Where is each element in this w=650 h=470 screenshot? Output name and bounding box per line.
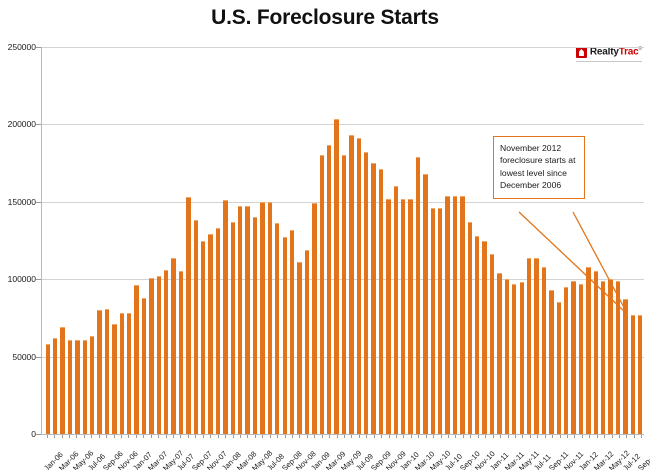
x-axis-tick bbox=[574, 435, 575, 438]
bar-slot bbox=[466, 47, 473, 434]
bar[interactable] bbox=[327, 145, 331, 434]
bar[interactable] bbox=[475, 236, 479, 434]
bar-slot bbox=[66, 47, 73, 434]
bar[interactable] bbox=[120, 313, 124, 434]
bar[interactable] bbox=[579, 284, 583, 434]
bar-slot bbox=[118, 47, 125, 434]
bar-series bbox=[42, 47, 644, 434]
y-axis-tick-label: 0 bbox=[0, 429, 36, 439]
bar-slot bbox=[259, 47, 266, 434]
bar-slot bbox=[207, 47, 214, 434]
x-axis-tick bbox=[54, 435, 55, 438]
y-axis-tick-label: 200000 bbox=[0, 119, 36, 129]
x-axis-tick bbox=[582, 435, 583, 438]
x-axis-tick bbox=[225, 435, 226, 438]
bar[interactable] bbox=[320, 155, 324, 434]
bar[interactable] bbox=[438, 208, 442, 434]
bar[interactable] bbox=[408, 199, 412, 434]
bar-slot bbox=[185, 47, 192, 434]
y-axis-tick-label: 250000 bbox=[0, 42, 36, 52]
bar-slot bbox=[533, 47, 540, 434]
bar[interactable] bbox=[164, 270, 168, 434]
bar[interactable] bbox=[453, 196, 457, 434]
bar[interactable] bbox=[112, 324, 116, 434]
bar-slot bbox=[325, 47, 332, 434]
x-axis-tick bbox=[589, 435, 590, 438]
bar[interactable] bbox=[83, 340, 87, 434]
bar-slot bbox=[414, 47, 421, 434]
bar[interactable] bbox=[364, 152, 368, 434]
x-axis-tick bbox=[69, 435, 70, 438]
x-axis-tick bbox=[448, 435, 449, 438]
x-axis-tick bbox=[455, 435, 456, 438]
x-axis-tick bbox=[203, 435, 204, 438]
x-axis-tick bbox=[612, 435, 613, 438]
bar[interactable] bbox=[75, 340, 79, 434]
x-axis-tick bbox=[337, 435, 338, 438]
x-axis-tick bbox=[522, 435, 523, 438]
bar-slot bbox=[577, 47, 584, 434]
bar[interactable] bbox=[238, 206, 242, 434]
x-axis-tick bbox=[626, 435, 627, 438]
bar-slot bbox=[548, 47, 555, 434]
bar-slot bbox=[503, 47, 510, 434]
annotation-line: lowest level since bbox=[500, 167, 578, 179]
bar[interactable] bbox=[179, 271, 183, 434]
bar[interactable] bbox=[194, 220, 198, 434]
bar[interactable] bbox=[445, 196, 449, 434]
bar[interactable] bbox=[564, 287, 568, 434]
bar[interactable] bbox=[127, 313, 131, 434]
bar-slot bbox=[437, 47, 444, 434]
x-axis-tick bbox=[552, 435, 553, 438]
x-axis-tick bbox=[121, 435, 122, 438]
bar-slot bbox=[370, 47, 377, 434]
bar-slot bbox=[274, 47, 281, 434]
bar-slot bbox=[170, 47, 177, 434]
bar-slot bbox=[200, 47, 207, 434]
bar-slot bbox=[355, 47, 362, 434]
bar-slot bbox=[74, 47, 81, 434]
bar-slot bbox=[488, 47, 495, 434]
bar[interactable] bbox=[268, 202, 272, 434]
bar-slot bbox=[251, 47, 258, 434]
x-axis-tick bbox=[508, 435, 509, 438]
bar-slot bbox=[288, 47, 295, 434]
x-axis-tick bbox=[641, 435, 642, 438]
bar-slot bbox=[192, 47, 199, 434]
x-axis-tick bbox=[403, 435, 404, 438]
bar[interactable] bbox=[283, 237, 287, 434]
x-axis-tick bbox=[597, 435, 598, 438]
x-axis-tick bbox=[277, 435, 278, 438]
bar-slot bbox=[340, 47, 347, 434]
bar[interactable] bbox=[253, 217, 257, 434]
bar-slot bbox=[81, 47, 88, 434]
bar-slot bbox=[474, 47, 481, 434]
bar-slot bbox=[281, 47, 288, 434]
chart-title: U.S. Foreclosure Starts bbox=[0, 6, 650, 30]
x-axis-tick bbox=[619, 435, 620, 438]
y-axis-tick-label: 50000 bbox=[0, 352, 36, 362]
bar[interactable] bbox=[386, 199, 390, 434]
bar-slot bbox=[599, 47, 606, 434]
bar[interactable] bbox=[201, 241, 205, 435]
y-axis: 050000100000150000200000250000 bbox=[0, 47, 36, 434]
x-axis-tick bbox=[463, 435, 464, 438]
bar-slot bbox=[244, 47, 251, 434]
bar-slot bbox=[562, 47, 569, 434]
bar[interactable] bbox=[549, 290, 553, 434]
bar[interactable] bbox=[401, 199, 405, 434]
plot-area bbox=[41, 47, 644, 435]
x-axis-tick bbox=[545, 435, 546, 438]
bar-slot bbox=[540, 47, 547, 434]
x-axis-tick bbox=[99, 435, 100, 438]
bar-slot bbox=[607, 47, 614, 434]
x-axis-tick bbox=[91, 435, 92, 438]
bar[interactable] bbox=[586, 267, 590, 434]
bar-slot bbox=[125, 47, 132, 434]
x-axis-tick bbox=[567, 435, 568, 438]
bar-slot bbox=[392, 47, 399, 434]
bar[interactable] bbox=[223, 200, 227, 434]
bar-slot bbox=[133, 47, 140, 434]
x-axis-tick bbox=[329, 435, 330, 438]
bar[interactable] bbox=[186, 197, 190, 434]
bar-slot bbox=[377, 47, 384, 434]
x-axis-tick bbox=[166, 435, 167, 438]
x-axis-tick bbox=[270, 435, 271, 438]
bar[interactable] bbox=[594, 271, 598, 434]
bar-slot bbox=[429, 47, 436, 434]
bar[interactable] bbox=[245, 206, 249, 434]
bar[interactable] bbox=[297, 262, 301, 434]
x-axis-tick bbox=[396, 435, 397, 438]
x-axis-tick bbox=[478, 435, 479, 438]
bar[interactable] bbox=[638, 315, 642, 434]
bar[interactable] bbox=[260, 202, 264, 434]
bar[interactable] bbox=[334, 119, 338, 434]
bar-slot bbox=[459, 47, 466, 434]
x-axis-tick bbox=[262, 435, 263, 438]
bar-slot bbox=[511, 47, 518, 434]
bar[interactable] bbox=[134, 285, 138, 434]
bar-slot bbox=[59, 47, 66, 434]
bar[interactable] bbox=[557, 302, 561, 434]
bar-slot bbox=[348, 47, 355, 434]
bar[interactable] bbox=[394, 186, 398, 434]
bar[interactable] bbox=[46, 344, 50, 434]
bar[interactable] bbox=[534, 258, 538, 434]
foreclosure-starts-chart: U.S. Foreclosure Starts RealtyTrac® 0500… bbox=[0, 0, 650, 470]
x-axis-tick bbox=[299, 435, 300, 438]
x-axis-tick bbox=[359, 435, 360, 438]
x-axis-tick bbox=[106, 435, 107, 438]
x-axis-tick bbox=[240, 435, 241, 438]
x-axis-tick bbox=[136, 435, 137, 438]
x-axis-tick bbox=[426, 435, 427, 438]
x-axis-tick bbox=[143, 435, 144, 438]
bar[interactable] bbox=[520, 282, 524, 434]
x-axis-tick bbox=[470, 435, 471, 438]
bar[interactable] bbox=[208, 234, 212, 434]
bar[interactable] bbox=[416, 157, 420, 434]
bar[interactable] bbox=[542, 267, 546, 434]
x-axis-tick bbox=[344, 435, 345, 438]
bar[interactable] bbox=[290, 230, 294, 434]
x-axis-tick bbox=[151, 435, 152, 438]
bar[interactable] bbox=[349, 135, 353, 434]
x-axis-tick bbox=[381, 435, 382, 438]
bar-slot bbox=[229, 47, 236, 434]
bar-slot bbox=[155, 47, 162, 434]
bar[interactable] bbox=[53, 338, 57, 434]
bar-slot bbox=[96, 47, 103, 434]
bar-slot bbox=[614, 47, 621, 434]
y-axis-tick-label: 100000 bbox=[0, 274, 36, 284]
bar-slot bbox=[51, 47, 58, 434]
x-axis-tick bbox=[173, 435, 174, 438]
bar-slot bbox=[451, 47, 458, 434]
bar-slot bbox=[525, 47, 532, 434]
bar-slot bbox=[44, 47, 51, 434]
bar-slot bbox=[266, 47, 273, 434]
bar-slot bbox=[407, 47, 414, 434]
bar[interactable] bbox=[631, 315, 635, 434]
x-axis-tick bbox=[314, 435, 315, 438]
x-axis-tick bbox=[493, 435, 494, 438]
x-axis-tick bbox=[62, 435, 63, 438]
bar-slot bbox=[177, 47, 184, 434]
bar-slot bbox=[385, 47, 392, 434]
bar-slot bbox=[311, 47, 318, 434]
bar-slot bbox=[148, 47, 155, 434]
bar[interactable] bbox=[105, 309, 109, 434]
x-axis-tick bbox=[114, 435, 115, 438]
x-axis-tick bbox=[634, 435, 635, 438]
x-axis-tick bbox=[433, 435, 434, 438]
x-axis-tick bbox=[158, 435, 159, 438]
bar[interactable] bbox=[482, 241, 486, 435]
x-axis-tick bbox=[180, 435, 181, 438]
x-axis-tick bbox=[411, 435, 412, 438]
bar[interactable] bbox=[231, 222, 235, 434]
x-axis-tick bbox=[195, 435, 196, 438]
x-axis-tick bbox=[389, 435, 390, 438]
x-axis-tick bbox=[285, 435, 286, 438]
bar-slot bbox=[237, 47, 244, 434]
bar-slot bbox=[585, 47, 592, 434]
bar-slot bbox=[103, 47, 110, 434]
bar[interactable] bbox=[608, 279, 612, 434]
bar-slot bbox=[222, 47, 229, 434]
bar[interactable] bbox=[371, 163, 375, 434]
bar[interactable] bbox=[505, 279, 509, 434]
bar-slot bbox=[111, 47, 118, 434]
x-axis-tick bbox=[247, 435, 248, 438]
bar-slot bbox=[496, 47, 503, 434]
x-axis-tick bbox=[210, 435, 211, 438]
annotation-line: foreclosure starts at bbox=[500, 154, 578, 166]
x-axis-tick bbox=[233, 435, 234, 438]
bar-slot bbox=[592, 47, 599, 434]
bar-slot bbox=[296, 47, 303, 434]
bar[interactable] bbox=[571, 281, 575, 434]
bar[interactable] bbox=[68, 340, 72, 434]
x-axis-tick bbox=[604, 435, 605, 438]
bar-slot bbox=[214, 47, 221, 434]
bar-slot bbox=[400, 47, 407, 434]
x-axis-tick bbox=[418, 435, 419, 438]
x-axis-tick bbox=[515, 435, 516, 438]
bar[interactable] bbox=[312, 203, 316, 434]
bar[interactable] bbox=[431, 208, 435, 434]
bar[interactable] bbox=[157, 276, 161, 434]
bar[interactable] bbox=[171, 258, 175, 434]
bar[interactable] bbox=[512, 284, 516, 434]
bar[interactable] bbox=[97, 310, 101, 434]
bar[interactable] bbox=[460, 196, 464, 434]
x-axis-tick bbox=[188, 435, 189, 438]
bar[interactable] bbox=[90, 336, 94, 434]
x-axis-tick bbox=[84, 435, 85, 438]
x-axis-tick bbox=[351, 435, 352, 438]
bar-slot bbox=[140, 47, 147, 434]
x-axis-tick bbox=[500, 435, 501, 438]
bar[interactable] bbox=[527, 258, 531, 434]
bar[interactable] bbox=[616, 281, 620, 434]
x-axis-tick bbox=[560, 435, 561, 438]
bar-slot bbox=[318, 47, 325, 434]
x-axis-tick bbox=[366, 435, 367, 438]
y-axis-tick-label: 150000 bbox=[0, 197, 36, 207]
bar-slot bbox=[422, 47, 429, 434]
bar[interactable] bbox=[357, 138, 361, 434]
x-axis-tick bbox=[530, 435, 531, 438]
bar-slot bbox=[555, 47, 562, 434]
bar[interactable] bbox=[497, 273, 501, 434]
bar-slot bbox=[362, 47, 369, 434]
x-axis-tick bbox=[374, 435, 375, 438]
x-axis-tick bbox=[537, 435, 538, 438]
x-axis-tick bbox=[255, 435, 256, 438]
x-axis-tick bbox=[76, 435, 77, 438]
bar[interactable] bbox=[305, 250, 309, 434]
x-axis-tick bbox=[322, 435, 323, 438]
x-axis-tick bbox=[485, 435, 486, 438]
bar-slot bbox=[629, 47, 636, 434]
bar[interactable] bbox=[468, 222, 472, 434]
bar-slot bbox=[637, 47, 644, 434]
annotation-line: December 2006 bbox=[500, 179, 578, 191]
bar[interactable] bbox=[423, 174, 427, 434]
bar[interactable] bbox=[623, 299, 627, 434]
bar-slot bbox=[333, 47, 340, 434]
x-axis-tick bbox=[128, 435, 129, 438]
x-axis: Jan-06Mar-06May-06Jul-06Sep-06Nov-06Jan-… bbox=[41, 435, 643, 470]
bar[interactable] bbox=[216, 228, 220, 434]
bar-slot bbox=[481, 47, 488, 434]
bar-slot bbox=[622, 47, 629, 434]
x-axis-tick bbox=[292, 435, 293, 438]
bar-slot bbox=[163, 47, 170, 434]
x-axis-tick bbox=[441, 435, 442, 438]
bar[interactable] bbox=[342, 155, 346, 434]
bar-slot bbox=[88, 47, 95, 434]
bar[interactable] bbox=[601, 281, 605, 434]
annotation-line: November 2012 bbox=[500, 142, 578, 154]
x-axis-tick bbox=[307, 435, 308, 438]
bar[interactable] bbox=[60, 327, 64, 434]
bar-slot bbox=[570, 47, 577, 434]
x-axis-tick bbox=[47, 435, 48, 438]
bar[interactable] bbox=[142, 298, 146, 434]
bar-slot bbox=[444, 47, 451, 434]
annotation-callout: November 2012foreclosure starts atlowest… bbox=[493, 136, 585, 199]
bar[interactable] bbox=[149, 278, 153, 434]
bar-slot bbox=[518, 47, 525, 434]
bar-slot bbox=[303, 47, 310, 434]
bar[interactable] bbox=[490, 254, 494, 434]
x-axis-tick bbox=[218, 435, 219, 438]
bar[interactable] bbox=[275, 223, 279, 434]
bar[interactable] bbox=[379, 169, 383, 434]
